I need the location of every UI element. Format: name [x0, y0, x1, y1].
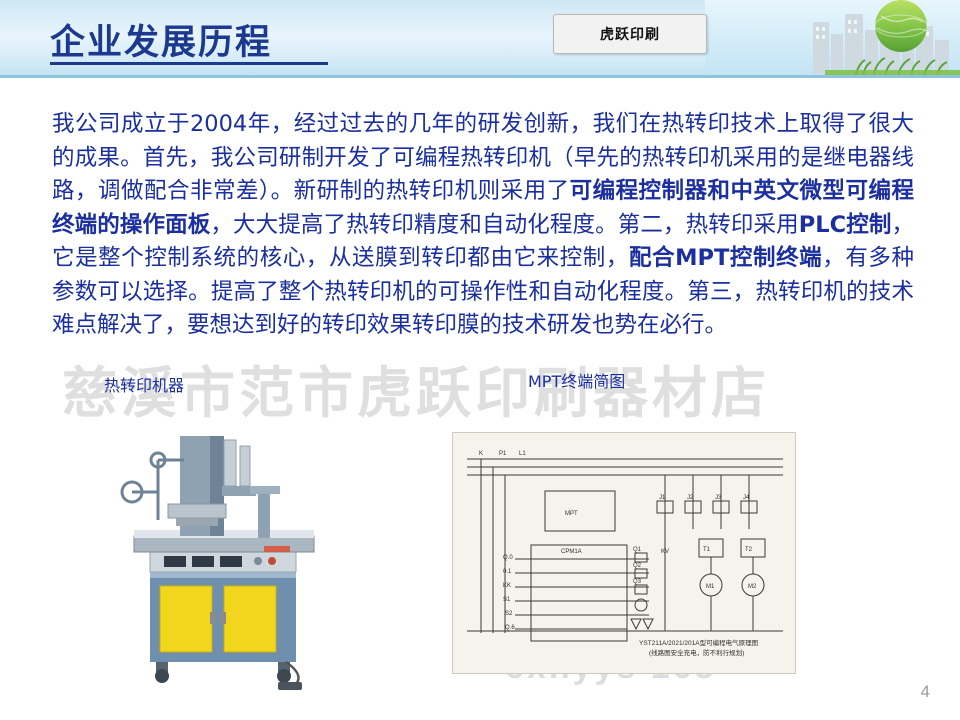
machine-photo	[72, 400, 362, 690]
diagram-label-m2: M2	[748, 584, 757, 590]
header-artwork	[705, 0, 960, 78]
diagram-caption-2: (线路图安全充电，防不利行规划)	[649, 648, 744, 657]
page-title: 企业发展历程	[50, 14, 272, 65]
svg-text:Q1: Q1	[633, 547, 642, 553]
svg-text:Q.0: Q.0	[503, 555, 513, 561]
caption-right: MPT终端简图	[528, 368, 625, 392]
svg-text:P1: P1	[499, 451, 507, 457]
svg-text:J2: J2	[687, 495, 694, 501]
svg-text:J1: J1	[659, 495, 666, 501]
caption-left: 热转印机器	[104, 372, 184, 396]
svg-text:Q3: Q3	[633, 579, 642, 585]
mpt-wiring-diagram: MPT CPM1A T1 T2 M1 M2 J1J2 J3J4 KV Q.00.…	[452, 432, 796, 674]
brand-badge[interactable]: 虎跃印刷	[553, 14, 707, 54]
svg-text:S2: S2	[505, 611, 513, 617]
svg-text:L1: L1	[519, 451, 526, 457]
page-number: 4	[921, 682, 930, 702]
diagram-label-m1: M1	[706, 584, 715, 590]
diagram-label-t1: T1	[703, 547, 711, 553]
diagram-label-mpt: MPT	[565, 511, 578, 517]
title-underline	[50, 62, 328, 65]
svg-text:KV: KV	[661, 549, 669, 555]
emphasis-run: 配合MPT控制终端	[629, 245, 822, 271]
svg-text:S1: S1	[503, 597, 511, 603]
svg-text:J3: J3	[715, 495, 722, 501]
brand-label: 虎跃印刷	[600, 24, 660, 44]
body-paragraph: 我公司成立于2004年，经过过去的几年的研发创新，我们在热转印技术上取得了很大的…	[52, 108, 914, 343]
svg-text:J4: J4	[743, 495, 750, 501]
diagram-caption-1: YST211A/2021/201A型可编程电气原理图	[639, 638, 758, 647]
emphasis-run: PLC控制	[799, 212, 892, 238]
svg-text:Q.6: Q.6	[505, 625, 515, 631]
text-run: ，大大提高了热转印精度和自动化程度。第二，热转印采用	[210, 212, 798, 238]
slide-header: 企业发展历程 虎跃印刷	[0, 0, 960, 78]
diagram-label-t2: T2	[745, 547, 753, 553]
svg-text:Q2: Q2	[633, 563, 642, 569]
svg-text:KK: KK	[503, 583, 511, 589]
diagram-label-cpu: CPM1A	[561, 549, 582, 555]
svg-text:K: K	[479, 451, 483, 457]
svg-text:0.1: 0.1	[503, 569, 512, 575]
